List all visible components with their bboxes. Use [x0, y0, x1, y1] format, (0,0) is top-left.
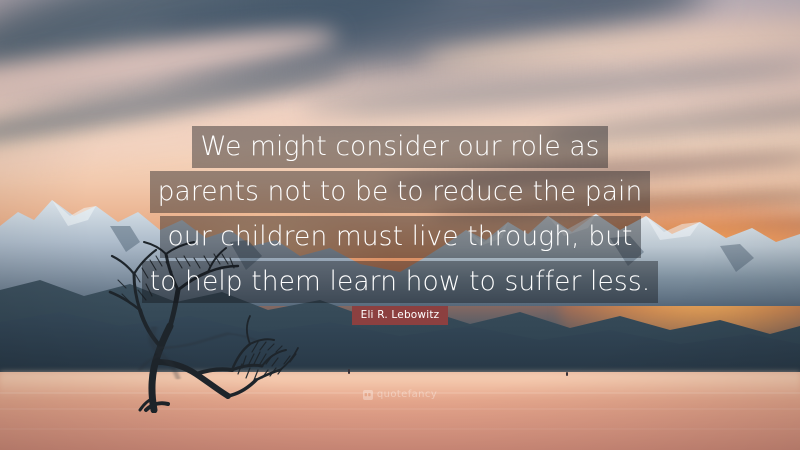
buoy-marker — [566, 372, 568, 376]
attribution: Eli R. Lebowitz — [0, 303, 800, 325]
watermark-label: quotefancy — [377, 390, 437, 400]
quote-line-4: to help them learn how to suffer less. — [142, 261, 659, 303]
author-name-badge: Eli R. Lebowitz — [352, 306, 449, 325]
quote-poster: We might consider our role as parents no… — [0, 0, 800, 450]
watermark[interactable]: quotefancy — [0, 390, 800, 400]
quote-line-3: our children must live through, but — [160, 216, 641, 258]
quote-mark-icon — [363, 390, 373, 400]
quote-line-2: parents not to be to reduce the pain — [150, 171, 651, 213]
quote-text: We might consider our role as parents no… — [0, 126, 800, 306]
buoy-marker — [348, 369, 350, 374]
water-ripple-line — [0, 428, 800, 430]
quote-line-1: We might consider our role as — [192, 126, 607, 168]
